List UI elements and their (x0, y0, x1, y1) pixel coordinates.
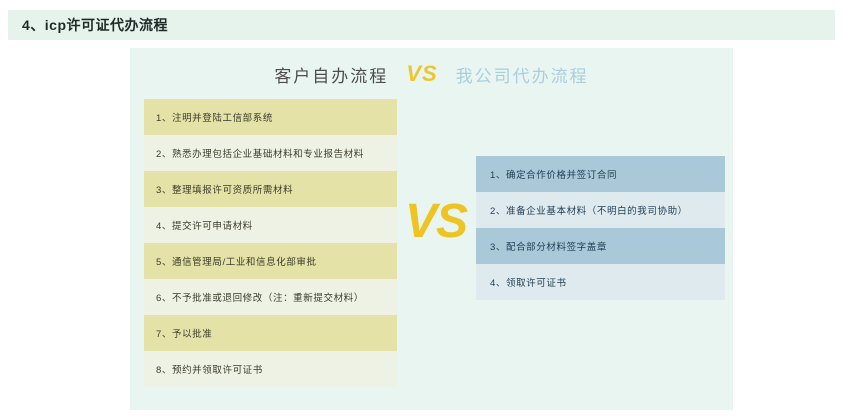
list-item: 5、通信管理局/工业和信息化部审批 (144, 243, 397, 279)
step-label: 3、配合部分材料签字盖章 (490, 239, 607, 253)
step-label: 2、准备企业基本材料（不明白的我司协助） (490, 203, 688, 217)
step-label: 5、通信管理局/工业和信息化部审批 (156, 254, 317, 268)
list-item: 8、预约并领取许可证书 (144, 351, 397, 387)
step-label: 3、整理填报许可资质所需材料 (156, 182, 293, 196)
process-comparison-diagram: 客户自办流程 VS 我公司代办流程 1、注明并登陆工信部系统 2、熟悉办理包括企… (130, 48, 733, 410)
diagram-title-left: 客户自办流程 (274, 62, 388, 87)
step-label: 6、不予批准或退回修改（注：重新提交材料） (156, 290, 364, 304)
list-item: 2、熟悉办理包括企业基础材料和专业报告材料 (144, 135, 397, 171)
section-header: 4、icp许可证代办流程 (8, 10, 835, 40)
list-item: 1、确定合作价格并签订合同 (476, 156, 725, 192)
versus-label: VS (398, 198, 474, 246)
list-item: 7、予以批准 (144, 315, 397, 351)
step-label: 2、熟悉办理包括企业基础材料和专业报告材料 (156, 146, 364, 160)
customer-process-column: 1、注明并登陆工信部系统 2、熟悉办理包括企业基础材料和专业报告材料 3、整理填… (144, 99, 397, 387)
list-item: 4、领取许可证书 (476, 264, 725, 300)
list-item: 4、提交许可申请材料 (144, 207, 397, 243)
company-process-column: 1、确定合作价格并签订合同 2、准备企业基本材料（不明白的我司协助） 3、配合部… (476, 156, 725, 300)
page-title: 4、icp许可证代办流程 (8, 15, 168, 35)
diagram-title-vs-label: VS (406, 61, 437, 87)
list-item: 1、注明并登陆工信部系统 (144, 99, 397, 135)
step-label: 4、提交许可申请材料 (156, 218, 253, 232)
step-label: 8、预约并领取许可证书 (156, 362, 263, 376)
list-item: 6、不予批准或退回修改（注：重新提交材料） (144, 279, 397, 315)
list-item: 3、整理填报许可资质所需材料 (144, 171, 397, 207)
step-label: 1、确定合作价格并签订合同 (490, 167, 617, 181)
list-item: 3、配合部分材料签字盖章 (476, 228, 725, 264)
step-label: 7、予以批准 (156, 326, 212, 340)
step-label: 1、注明并登陆工信部系统 (156, 110, 273, 124)
diagram-title-row: 客户自办流程 VS 我公司代办流程 (130, 56, 733, 92)
step-label: 4、领取许可证书 (490, 275, 567, 289)
list-item: 2、准备企业基本材料（不明白的我司协助） (476, 192, 725, 228)
diagram-title-right: 我公司代办流程 (456, 62, 589, 87)
